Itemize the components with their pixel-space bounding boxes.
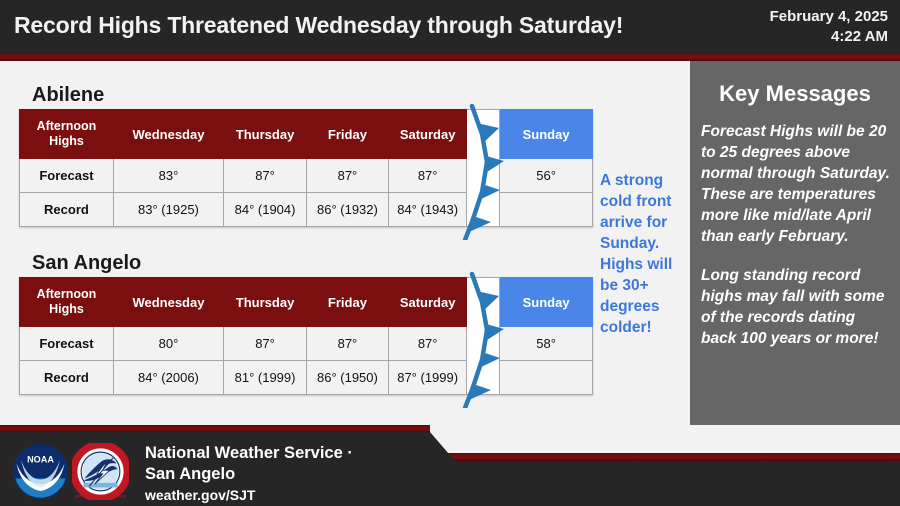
header-afternoon-highs-line1: Afternoon [20,287,113,302]
weather-graphic: Record Highs Threatened Wednesday throug… [0,0,900,506]
header-datetime: February 4, 2025 4:22 AM [770,7,888,47]
footer-website: weather.gov/SJT [145,485,353,505]
footer-accent-stripe-right [425,453,900,461]
row-label-record: Record [20,193,114,227]
table-row: Forecast 83° 87° 87° 87° 56° [20,159,593,193]
row-label-forecast: Forecast [20,327,114,361]
cell-forecast-thursday: 87° [224,159,307,193]
nws-logo-text: NATIONAL WEATHER SERVICE [75,495,127,499]
cell-record-friday: 86° (1950) [307,361,389,395]
cold-front-column-cell [467,361,500,395]
cell-record-sunday [500,361,593,395]
cold-front-column-cell [467,159,500,193]
row-label-forecast: Forecast [20,159,114,193]
key-messages-title: Key Messages [690,81,900,107]
footer-gap [428,425,900,453]
cell-record-sunday [500,193,593,227]
header-afternoon-highs-line1: Afternoon [20,119,113,134]
footer [0,425,900,506]
cell-forecast-wednesday: 80° [113,327,223,361]
cold-front-column-cell [467,327,500,361]
table-row: Record 83° (1925) 84° (1904) 86° (1932) … [20,193,593,227]
header-time: 4:22 AM [770,27,888,47]
forecast-table-san-angelo: Afternoon Highs Wednesday Thursday Frida… [19,277,593,395]
footer-agency-name: National Weather Service · [145,443,353,464]
footer-accent-stripe-left [0,425,430,432]
header-afternoon-highs: Afternoon Highs [20,278,114,327]
cell-record-wednesday: 83° (1925) [113,193,223,227]
header-day-sunday: Sunday [500,110,593,159]
cell-forecast-sunday: 58° [500,327,593,361]
cell-forecast-saturday: 87° [388,327,467,361]
cell-forecast-friday: 87° [307,327,389,361]
cell-forecast-friday: 87° [307,159,389,193]
header-day-sunday: Sunday [500,278,593,327]
table-row: Forecast 80° 87° 87° 87° 58° [20,327,593,361]
cell-record-thursday: 81° (1999) [224,361,307,395]
header-date: February 4, 2025 [770,7,888,27]
cell-forecast-thursday: 87° [224,327,307,361]
key-messages-body: Forecast Highs will be 20 to 25 degrees … [701,121,891,367]
cell-record-friday: 86° (1932) [307,193,389,227]
header-day-thursday: Thursday [224,110,307,159]
header-day-friday: Friday [307,278,389,327]
cold-front-column-header [467,110,500,159]
cold-front-column-cell [467,193,500,227]
noaa-logo-text: NOAA [27,454,54,464]
footer-text: National Weather Service · San Angelo we… [145,443,353,505]
cell-forecast-sunday: 56° [500,159,593,193]
cell-record-wednesday: 84° (2006) [113,361,223,395]
header-day-friday: Friday [307,110,389,159]
cell-record-saturday: 87° (1999) [388,361,467,395]
cell-forecast-wednesday: 83° [113,159,223,193]
key-message-paragraph: Forecast Highs will be 20 to 25 degrees … [701,121,891,247]
row-label-record: Record [20,361,114,395]
table-header-row: Afternoon Highs Wednesday Thursday Frida… [20,110,593,159]
table-row: Record 84° (2006) 81° (1999) 86° (1950) … [20,361,593,395]
key-message-paragraph: Long standing record highs may fall with… [701,265,891,349]
cell-forecast-saturday: 87° [388,159,467,193]
cold-front-column-header [467,278,500,327]
header-day-wednesday: Wednesday [113,110,223,159]
cold-front-annotation: A strong cold front arrive for Sunday. H… [600,170,682,338]
forecast-table-abilene: Afternoon Highs Wednesday Thursday Frida… [19,109,593,227]
header-accent-stripe [0,53,900,61]
header-afternoon-highs-line2: Highs [20,302,113,317]
footer-office-name: San Angelo [145,464,353,485]
page-title: Record Highs Threatened Wednesday throug… [14,12,623,39]
header-bar: Record Highs Threatened Wednesday throug… [0,0,900,53]
header-day-saturday: Saturday [388,110,467,159]
table-header-row: Afternoon Highs Wednesday Thursday Frida… [20,278,593,327]
nws-logo-icon: NATIONAL WEATHER SERVICE [72,443,129,500]
key-messages-panel: Key Messages Forecast Highs will be 20 t… [690,61,900,446]
location-title-abilene: Abilene [32,84,104,107]
location-title-san-angelo: San Angelo [32,252,141,275]
noaa-logo-icon: NOAA [12,443,69,500]
cell-record-saturday: 84° (1943) [388,193,467,227]
header-day-saturday: Saturday [388,278,467,327]
header-day-thursday: Thursday [224,278,307,327]
header-day-wednesday: Wednesday [113,278,223,327]
header-afternoon-highs: Afternoon Highs [20,110,114,159]
cell-record-thursday: 84° (1904) [224,193,307,227]
header-afternoon-highs-line2: Highs [20,134,113,149]
